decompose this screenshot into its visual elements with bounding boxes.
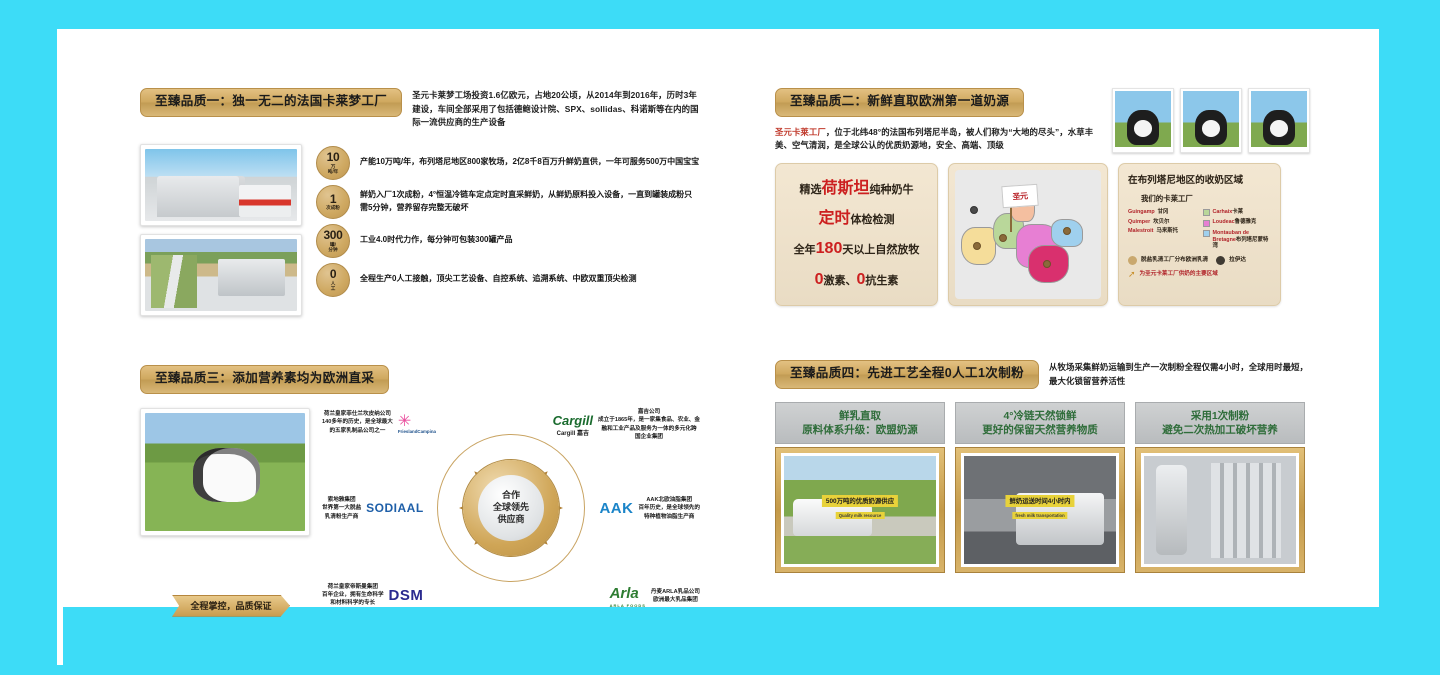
supplier-node-sodiaal: 索地雅集团 世界第一大脱盐 乳清粉生产商 SODIAAL — [322, 496, 424, 521]
legend-foot-note: ➚ 为圣元卡莱工厂供奶的主要区域 — [1128, 269, 1271, 280]
stat-unit: 次成粉 — [326, 206, 340, 211]
process-card: 鲜乳直取 原料体系升级：欧盟奶源 500万吨的优质奶源供应 Quality mi… — [775, 402, 945, 573]
factory-map-flag: 圣元 — [1001, 184, 1038, 208]
legend-column-left: Guingamp甘冈 Quimper坎贝尔 Malestroit马来斯托 — [1128, 209, 1197, 250]
legend-foot-item: 拉伊达 — [1216, 256, 1246, 265]
stat-number: 300 — [323, 229, 342, 241]
stat-unit: 罐/ 分钟 — [328, 243, 337, 252]
section-three-heading: 至臻品质三：添加营养素均为欧洲直采 — [140, 365, 389, 394]
arla-logo: ArlaARLA FOODS — [610, 585, 646, 608]
photo-caption-ribbon: 全程掌控，品质保证 — [172, 595, 290, 617]
section-two-cow-photos — [1112, 88, 1310, 153]
legend-swatch — [1203, 230, 1210, 237]
supplier-node-text: AAK北欧油脂集团 百年历史，是全球领先的 特种植物油脂生产商 — [638, 496, 700, 521]
stat-unit: 人 工 — [331, 282, 336, 291]
section-one: 至臻品质一：独一无二的法国卡莱梦工厂 圣元卡莱梦工场投资1.6亿欧元，占地20公… — [140, 88, 700, 338]
cargill-logo: CargillCargill 嘉吉 — [553, 412, 593, 437]
banner-line-2: 避免二次热加工破坏营养 — [1140, 423, 1300, 437]
cow-photo-2 — [1180, 88, 1242, 153]
stat-description: 产能10万吨/年，布列塔尼地区800家牧场，2亿8千8百万升鲜奶直供，一年可服务… — [360, 156, 699, 169]
claim-line: 定时体检检测 — [782, 210, 931, 228]
stat-number: 0 — [330, 268, 336, 280]
legend-item: Guingamp甘冈 — [1128, 209, 1197, 216]
banner-line-2: 原料体系升级：欧盟奶源 — [780, 423, 940, 437]
brittany-region-map: 圣元 — [948, 163, 1108, 306]
stat-number: 1 — [330, 193, 336, 205]
stat-unit: 万 吨/年 — [328, 165, 338, 174]
milk-quality-claims-panel: 精选荷斯坦纯种奶牛 定时体检检测 全年180天以上自然放牧 0激素、0抗生素 — [775, 163, 938, 306]
supplier-node-aak: AAK AAK北欧油脂集团 百年历史，是全球领先的 特种植物油脂生产商 — [599, 496, 700, 521]
pasture-cow-photo: 全程掌控，品质保证 — [140, 408, 310, 608]
section-two-heading: 至臻品质二：新鲜直取欧洲第一道奶源 — [775, 88, 1024, 117]
factory-exterior-photo — [140, 144, 302, 226]
banner-line-1: 鲜乳直取 — [780, 409, 940, 423]
section-one-stats: 10 万 吨/年 产能10万吨/年，布列塔尼地区800家牧场，2亿8千8百万升鲜… — [316, 144, 700, 316]
section-two: 至臻品质二：新鲜直取欧洲第一道奶源 圣元卡莱工厂，位于北纬48°的法国布列塔尼半… — [775, 88, 1310, 328]
process-card-banner: 4°冷链天然锁鲜 更好的保留天然营养物质 — [955, 402, 1125, 444]
sodiaal-logo: SODIAAL — [366, 501, 424, 515]
process-card: 4°冷链天然锁鲜 更好的保留天然营养物质 鲜奶运送时间4小时内 fresh mi… — [955, 402, 1125, 573]
section-four: 至臻品质四：先进工艺全程0人工1次制粉 从牧场采集鲜奶运输到生产一次制粉全程仅需… — [775, 360, 1310, 595]
legend-swatch — [1203, 220, 1210, 227]
brochure-root: 至臻品质一：独一无二的法国卡莱梦工厂 圣元卡莱梦工场投资1.6亿欧元，占地20公… — [0, 0, 1440, 675]
process-card: 采用1次制粉 避免二次热加工破坏营养 — [1135, 402, 1305, 573]
supplier-node-text: 荷兰皇家菲仕兰坎皮纳公司 140多年的历史，是全球最大 的五家乳制品公司之一 — [322, 410, 393, 435]
banner-line-1: 采用1次制粉 — [1140, 409, 1300, 423]
center-line-3: 供应商 — [497, 514, 524, 526]
stat-row: 300 罐/ 分钟 工业4.0时代力作，每分钟可包装300罐产品 — [316, 224, 700, 258]
legend-item: Malestroit马来斯托 — [1128, 228, 1197, 235]
powder-plant-photo — [1144, 456, 1296, 564]
photo-caption: 鲜奶运送时间4小时内 — [1005, 495, 1074, 507]
dsm-logo: DSM — [389, 587, 424, 604]
supplier-node-cargill: CargillCargill 嘉吉 嘉吉公司 成立于1865年，是一家集食品、农… — [553, 408, 700, 442]
stat-badge: 1 次成粉 — [316, 185, 350, 219]
process-card-banner: 鲜乳直取 原料体系升级：欧盟奶源 — [775, 402, 945, 444]
aak-logo: AAK — [599, 500, 633, 517]
map-legend-panel: 在布列塔尼地区的收奶区域 我们的卡莱工厂 Guingamp甘冈 Quimper坎… — [1118, 163, 1281, 306]
supplier-node-frieslandcampina: 荷兰皇家菲仕兰坎皮纳公司 140多年的历史，是全球最大 的五家乳制品公司之一 ✳… — [322, 410, 436, 435]
section-one-note: 圣元卡莱梦工场投资1.6亿欧元，占地20公顷，从2014年到2016年，历时3年… — [412, 88, 700, 130]
stat-badge: 300 罐/ 分钟 — [316, 224, 350, 258]
section-four-header: 至臻品质四：先进工艺全程0人工1次制粉 从牧场采集鲜奶运输到生产一次制粉全程仅需… — [775, 360, 1310, 389]
milk-truck-photo: 500万吨的优质奶源供应 Quality milk resource — [784, 456, 936, 564]
stat-badge: 0 人 工 — [316, 263, 350, 297]
legend-foot-item: 脱盐乳清工厂分布欧洲乳清 — [1128, 256, 1208, 265]
stat-row: 1 次成粉 鲜奶入厂1次成粉，4°恒温冷链车定点定时直采鲜奶，从鲜奶原料投入设备… — [316, 185, 700, 219]
photo-caption: 500万吨的优质奶源供应 — [822, 495, 898, 507]
photo-subcaption: fresh milk transportation — [1012, 512, 1067, 519]
legend-item: Quimper坎贝尔 — [1128, 219, 1197, 226]
section-two-note-highlight: 圣元卡莱工厂 — [775, 127, 826, 137]
supplier-node-text: 荷兰皇家帝斯曼集团 百年企业，拥有生命科学 和材料科学的专长 — [322, 583, 384, 608]
stat-description: 全程生产0人工接触，顶尖工艺设备、自控系统、追溯系统、中欧双重顶尖检测 — [360, 273, 636, 286]
banner-line-2: 更好的保留天然营养物质 — [960, 423, 1120, 437]
legend-title: 在布列塔尼地区的收奶区域 — [1128, 172, 1271, 186]
cow-photo-1 — [1112, 88, 1174, 153]
arrow-icon: ➚ — [1128, 269, 1136, 280]
supplier-node-arla: ArlaARLA FOODS 丹麦ARLA乳品公司 欧洲最大乳品集团 — [610, 585, 700, 608]
legend-column-right: Carhaix卡莱 Loudeac鲁德雅克 Montauban de Breta… — [1203, 209, 1272, 250]
center-line-1: 合作 — [502, 490, 520, 502]
stat-number: 10 — [327, 151, 340, 163]
section-four-note: 从牧场采集鲜奶运输到生产一次制粉全程仅需4小时，全球用时最短，最大化锁留营养活性 — [1049, 360, 1310, 388]
supplier-node-dsm: 荷兰皇家帝斯曼集团 百年企业，拥有生命科学 和材料科学的专长 DSM — [322, 583, 423, 608]
legend-circle-swatch — [1216, 256, 1225, 265]
supplier-node-text: 索地雅集团 世界第一大脱盐 乳清粉生产商 — [322, 496, 361, 521]
photo-subcaption: Quality milk resource — [836, 512, 885, 519]
banner-line-1: 4°冷链天然锁鲜 — [960, 409, 1120, 423]
stat-description: 工业4.0时代力作，每分钟可包装300罐产品 — [360, 234, 512, 247]
section-four-heading: 至臻品质四：先进工艺全程0人工1次制粉 — [775, 360, 1039, 389]
page-sheet-tail — [57, 607, 63, 665]
cow-photo-3 — [1248, 88, 1310, 153]
section-two-note: 圣元卡莱工厂，位于北纬48°的法国布列塔尼半岛，被人们称为“大地的尽头”，水草丰… — [775, 125, 1102, 153]
stat-badge: 10 万 吨/年 — [316, 146, 350, 180]
section-three: 至臻品质三：添加营养素均为欧洲直采 全程掌控，品质保证 合作 — [140, 365, 700, 595]
stat-row: 10 万 吨/年 产能10万吨/年，布列塔尼地区800家牧场，2亿8千8百万升鲜… — [316, 146, 700, 180]
legend-item: Carhaix卡莱 — [1203, 209, 1272, 217]
section-one-photos — [140, 144, 302, 316]
section-one-header: 至臻品质一：独一无二的法国卡莱梦工厂 圣元卡莱梦工场投资1.6亿欧元，占地20公… — [140, 88, 700, 130]
supplier-node-text: 丹麦ARLA乳品公司 欧洲最大乳品集团 — [651, 588, 700, 605]
legend-circle-swatch — [1128, 256, 1137, 265]
frieslandcampina-logo: ✳FrieslandCampina — [398, 411, 436, 434]
process-card-banner: 采用1次制粉 避免二次热加工破坏营养 — [1135, 402, 1305, 444]
center-line-2: 全球领先 — [493, 502, 529, 514]
cold-chain-depot-photo: 鲜奶运送时间4小时内 fresh milk transportation — [964, 456, 1116, 564]
claim-line: 0激素、0抗生素 — [782, 271, 931, 289]
section-one-heading: 至臻品质一：独一无二的法国卡莱梦工厂 — [140, 88, 402, 117]
legend-swatch — [1203, 209, 1210, 216]
supplier-network-diagram: 合作 全球领先 供应商 荷兰皇家菲仕兰坎皮纳公司 140多年的历史，是全球最大 … — [322, 408, 700, 608]
claim-line: 精选荷斯坦纯种奶牛 — [782, 180, 931, 198]
stat-description: 鲜奶入厂1次成粉，4°恒温冷链车定点定时直采鲜奶，从鲜奶原料投入设备，一直到罐装… — [360, 189, 700, 215]
diagram-center: 合作 全球领先 供应商 — [463, 460, 559, 556]
factory-aerial-photo — [140, 234, 302, 316]
supplier-node-text: 嘉吉公司 成立于1865年，是一家集食品、农业、金 融和工业产品及服务为一体的多… — [598, 408, 700, 442]
legend-item: Loudeac鲁德雅克 — [1203, 219, 1272, 227]
legend-item: Montauban de Bretagne布列塔尼蒙特湾 — [1203, 230, 1272, 250]
claim-line: 全年180天以上自然放牧 — [782, 240, 931, 258]
legend-subtitle: 我们的卡莱工厂 — [1141, 193, 1271, 204]
stat-row: 0 人 工 全程生产0人工接触，顶尖工艺设备、自控系统、追溯系统、中欧双重顶尖检… — [316, 263, 700, 297]
